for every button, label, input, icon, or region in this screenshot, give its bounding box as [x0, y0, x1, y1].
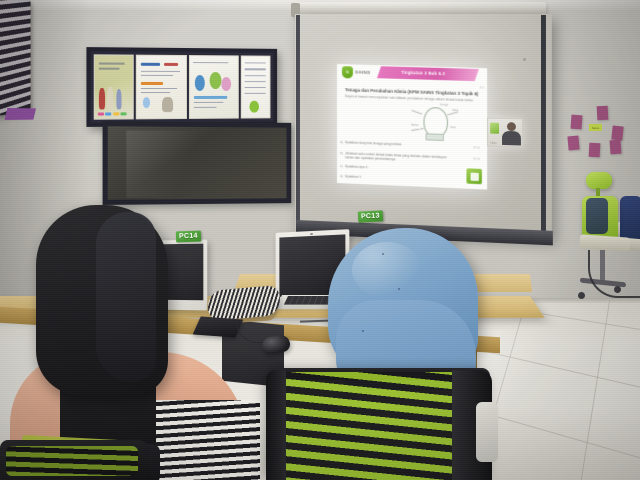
wall-card	[610, 140, 622, 155]
bulletin-board	[86, 47, 277, 127]
diagram-arrow	[411, 128, 423, 131]
question-marks: [4 m]	[473, 156, 479, 160]
notice-board-purple-edge	[5, 108, 36, 120]
slide-subject-label: SAINS	[355, 69, 371, 74]
chair-armrest	[476, 402, 498, 462]
webcam-logo-icon	[490, 123, 499, 134]
poster-infographic-1	[136, 55, 187, 120]
green-office-chair-1-headrest	[586, 172, 612, 189]
wall-card	[611, 125, 623, 140]
question-number: d)	[340, 174, 343, 178]
wall-card	[589, 143, 601, 158]
pc-tag-pc13: PC13	[358, 210, 383, 222]
blue-hijab-highlight	[352, 242, 422, 298]
diagram-label-left: Bahan	[411, 124, 418, 127]
screen-edge-right	[541, 15, 546, 231]
webcam-person-head	[507, 122, 516, 131]
slide-page-marker: 6.3	[480, 85, 484, 89]
webcam-person-body	[502, 131, 521, 146]
green-office-chair-2	[620, 196, 640, 242]
question-text: Jelaskan satu contoh tindak balas kimia …	[345, 151, 454, 164]
fabric-detail	[398, 288, 400, 290]
question-number: b)	[340, 151, 343, 155]
laptop-webcam-icon	[310, 232, 312, 235]
diagram-label-top-left: Tenaga	[440, 103, 448, 106]
poster-photo-collage	[94, 54, 134, 119]
question-text: Nyatakan dua jenis tenaga yang terlibat.	[345, 140, 454, 149]
projector-hotspot	[523, 58, 526, 61]
pc-tag-pc14: PC14	[176, 231, 201, 243]
green-office-chair-1-inner	[586, 198, 608, 234]
diagram-label-right: Hasil	[450, 126, 456, 129]
diagram-reaction-chip	[426, 133, 444, 141]
projected-slide: S SAINS Tingkatan 3 Bab 6.3 6.3 Tenaga d…	[337, 64, 487, 190]
screen-edge-left	[296, 15, 300, 231]
wall-card-center: Sains	[589, 124, 602, 131]
fabric-detail	[382, 253, 384, 255]
subject-badge-icon: S	[342, 66, 353, 78]
publisher-logo-icon	[466, 168, 481, 184]
diagram-label-top-right: Haba	[452, 109, 458, 112]
poster-infographic-2	[189, 55, 239, 119]
fabric-detail	[362, 330, 364, 332]
question-text: Nyatakan apa X.	[345, 164, 454, 173]
webcam-name-caption: Cikgu	[490, 142, 497, 145]
classroom-photo: S SAINS Tingkatan 3 Bab 6.3 6.3 Tenaga d…	[0, 0, 640, 480]
black-hijab-fold	[96, 212, 156, 382]
striped-notice-board	[0, 0, 31, 116]
chair-frame-left	[266, 370, 286, 480]
poster-chart-list	[240, 55, 270, 118]
wall-card	[571, 115, 583, 130]
presenter-webcam: Cikgu	[487, 118, 523, 148]
wall-card	[597, 106, 609, 121]
question-number: a)	[340, 140, 343, 144]
foreground-chair-left-mesh	[6, 446, 138, 476]
question-number: c)	[340, 164, 343, 168]
slide-banner-text: Tingkatan 3 Bab 6.3	[401, 70, 445, 76]
subject-badge-letter: S	[346, 69, 349, 74]
dark-display-panel	[103, 121, 292, 205]
question-text: Nyatakan Y.	[345, 174, 454, 183]
wall-card	[567, 136, 579, 151]
slide-diagram: Tenaga Haba Bahan Hasil	[411, 102, 460, 140]
chair-wheel	[578, 292, 585, 299]
wall-card-center-text: Sains	[592, 126, 600, 130]
question-marks: [2 m]	[473, 145, 479, 149]
diagram-arrow	[411, 110, 422, 114]
